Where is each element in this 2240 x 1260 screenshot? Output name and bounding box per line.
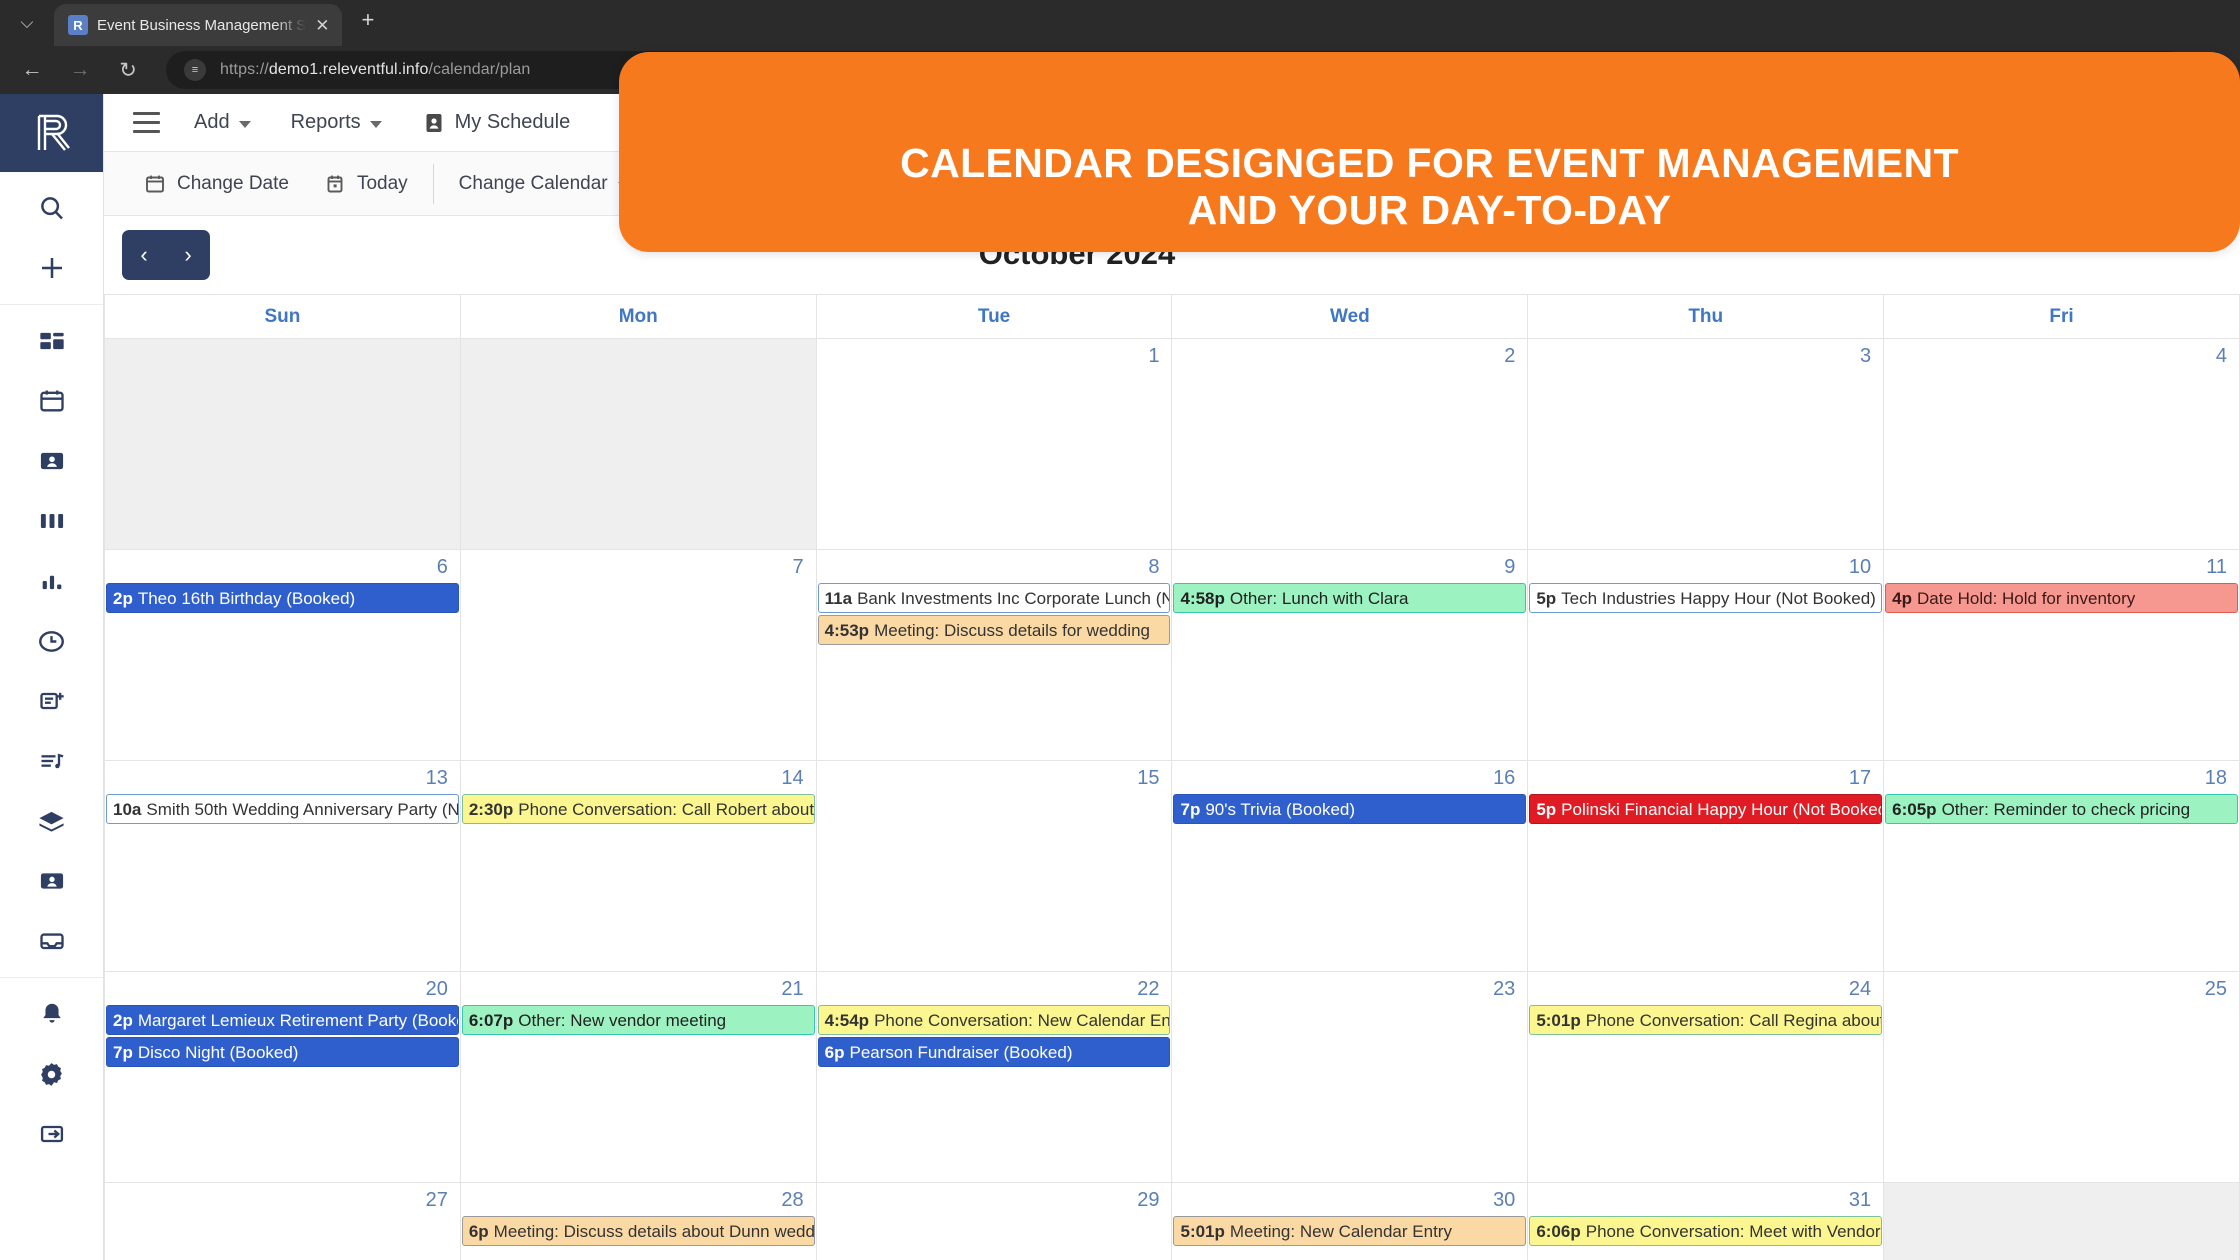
menu-my-schedule-label: My Schedule	[455, 111, 571, 134]
calendar-day-cell[interactable]: 1	[816, 339, 1172, 550]
sidebar-group-main	[0, 305, 103, 978]
calendar-event[interactable]: 4:53pMeeting: Discuss details for weddin…	[818, 615, 1171, 645]
day-number: 25	[1884, 972, 2239, 1003]
event-time: 4:54p	[825, 1011, 869, 1030]
sidebar-item-staff[interactable]	[0, 851, 103, 911]
chevron-down-icon	[370, 121, 382, 128]
url-host: demo1.releventful.info	[269, 61, 429, 78]
calendar-day-cell[interactable]: 2	[1172, 339, 1528, 550]
event-time: 7p	[113, 1043, 133, 1062]
menu-my-schedule[interactable]: My Schedule	[402, 94, 591, 152]
calendar-grid: SunMonTueWedThuFri 123462pTheo 16th Birt…	[104, 294, 2240, 1260]
calendar-week-row: 1310aSmith 50th Wedding Anniversary Part…	[105, 761, 2240, 972]
event-time: 10a	[113, 800, 141, 819]
sidebar-item-reports[interactable]	[0, 551, 103, 611]
calendar-event[interactable]: 2pMargaret Lemieux Retirement Party (Boo…	[106, 1005, 459, 1035]
staff-icon	[38, 867, 66, 895]
calendar-day-cell[interactable]: 105pTech Industries Happy Hour (Not Book…	[1528, 550, 1884, 761]
event-time: 6:07p	[469, 1011, 513, 1030]
event-title: Margaret Lemieux Retirement Party (Booke…	[138, 1011, 459, 1030]
day-number: 23	[1172, 972, 1527, 1003]
sidebar-item-playlists[interactable]	[0, 731, 103, 791]
calendar-day-cell[interactable]: 286pMeeting: Discuss details about Dunn …	[460, 1183, 816, 1260]
sidebar-item-notifications[interactable]	[0, 984, 103, 1044]
day-number: 8	[817, 550, 1172, 581]
dashboard-icon	[38, 327, 66, 355]
calendar-event[interactable]: 2pTheo 16th Birthday (Booked)	[106, 583, 459, 613]
weekday-header: Tue	[816, 295, 1172, 339]
day-number: 24	[1528, 972, 1883, 1003]
change-calendar-dropdown[interactable]: Change Calendar	[442, 152, 647, 216]
event-time: 6p	[825, 1043, 845, 1062]
toolbar-divider	[433, 164, 434, 204]
calendar-day-cell[interactable]: 29	[816, 1183, 1172, 1260]
bell-icon	[38, 1000, 66, 1028]
event-title: 90's Trivia (Booked)	[1205, 800, 1355, 819]
event-title: Meeting: Discuss details about Dunn wedd…	[494, 1222, 815, 1241]
weekday-header: Wed	[1172, 295, 1528, 339]
hamburger-icon[interactable]	[118, 112, 174, 133]
calendar-event[interactable]: 6pMeeting: Discuss details about Dunn we…	[462, 1216, 815, 1246]
clock-icon	[37, 627, 66, 656]
sidebar-item-inbox[interactable]	[0, 911, 103, 971]
event-time: 6:05p	[1892, 800, 1936, 819]
event-title: Meeting: New Calendar Entry	[1230, 1222, 1452, 1241]
tab-title: Event Business Management S	[97, 17, 306, 34]
event-time: 4:53p	[825, 621, 869, 640]
calendar-day-cell[interactable]: 4	[1884, 339, 2240, 550]
day-number: 15	[817, 761, 1172, 792]
sidebar-item-packages[interactable]	[0, 791, 103, 851]
calendar-event[interactable]: 4:58pOther: Lunch with Clara	[1173, 583, 1526, 613]
inbox-icon	[38, 927, 66, 955]
day-number	[105, 339, 460, 370]
event-time: 5:01p	[1180, 1222, 1224, 1241]
day-number: 6	[105, 550, 460, 581]
event-title: Other: Lunch with Clara	[1230, 589, 1409, 608]
calendar-event[interactable]: 11aBank Investments Inc Corporate Lunch …	[818, 583, 1171, 613]
chevron-down-icon	[239, 121, 251, 128]
day-number: 1	[817, 339, 1172, 370]
day-number	[1884, 1183, 2239, 1214]
browser-tab[interactable]: R Event Business Management S ✕	[54, 4, 342, 46]
invoice-add-icon	[38, 687, 66, 715]
columns-icon	[38, 507, 66, 535]
menu-add-label: Add	[194, 111, 230, 134]
event-time: 6p	[469, 1222, 489, 1241]
day-number: 11	[1884, 550, 2239, 581]
calendar-event[interactable]: 4pDate Hold: Hold for inventory	[1885, 583, 2238, 613]
calendar-event[interactable]: 4:54pPhone Conversation: New Calendar En…	[818, 1005, 1171, 1035]
day-number: 31	[1528, 1183, 1883, 1214]
calendar-day-cell[interactable]: 811aBank Investments Inc Corporate Lunch…	[816, 550, 1172, 761]
day-number: 14	[461, 761, 816, 792]
event-title: Date Hold: Hold for inventory	[1917, 589, 2135, 608]
calendar-day-cell[interactable]: 175pPolinski Financial Happy Hour (Not B…	[1528, 761, 1884, 972]
event-time: 4:58p	[1180, 589, 1224, 608]
event-time: 2:30p	[469, 800, 513, 819]
today-label: Today	[357, 173, 408, 195]
sidebar-item-pipeline[interactable]	[0, 491, 103, 551]
tab-list-chevron-icon[interactable]: ⌵	[0, 0, 54, 46]
calendar-day-cell[interactable]: 23	[1172, 972, 1528, 1183]
calendar-event[interactable]: 7p90's Trivia (Booked)	[1173, 794, 1526, 824]
day-number: 4	[1884, 339, 2239, 370]
sidebar-item-search[interactable]	[0, 178, 103, 238]
event-time: 5p	[1536, 589, 1556, 608]
sidebar-item-time[interactable]	[0, 611, 103, 671]
calendar-week-row: 202pMargaret Lemieux Retirement Party (B…	[105, 972, 2240, 1183]
calendar-event[interactable]: 5:01pMeeting: New Calendar Entry	[1173, 1216, 1526, 1246]
event-time: 5p	[1536, 800, 1556, 819]
sidebar-item-new-invoice[interactable]	[0, 671, 103, 731]
calendar-day-cell[interactable]: 7	[460, 550, 816, 761]
calendar-day-cell[interactable]: 27	[105, 1183, 461, 1260]
calendar-icon	[38, 387, 66, 415]
event-title: Other: Reminder to check pricing	[1942, 800, 2191, 819]
logout-icon	[38, 1120, 66, 1148]
app-logo[interactable]	[0, 94, 103, 172]
search-icon	[37, 193, 67, 223]
event-time: 2p	[113, 589, 133, 608]
weekday-header: Thu	[1528, 295, 1884, 339]
event-title: Bank Investments Inc Corporate Lunch (No…	[857, 589, 1170, 608]
application: Add Reports My Schedule Change Date Toda…	[0, 94, 2240, 1260]
calendar-day-cell[interactable]: 316:06pPhone Conversation: Meet with Ven…	[1528, 1183, 1884, 1260]
calendar-day-cell[interactable]: 62pTheo 16th Birthday (Booked)	[105, 550, 461, 761]
day-number	[461, 339, 816, 370]
calendar-event[interactable]: 6:05pOther: Reminder to check pricing	[1885, 794, 2238, 824]
calendar-day-cell[interactable]	[1884, 1183, 2240, 1260]
id-card-icon	[422, 111, 446, 135]
sidebar-group-system	[0, 978, 103, 1170]
calendar-day-cell[interactable]	[460, 339, 816, 550]
day-number: 29	[817, 1183, 1172, 1214]
change-date-label: Change Date	[177, 173, 289, 195]
menu-reports[interactable]: Reports	[271, 94, 402, 152]
sidebar	[0, 94, 104, 1260]
day-number: 3	[1528, 339, 1883, 370]
calendar-event[interactable]: 7pDisco Night (Booked)	[106, 1037, 459, 1067]
chart-icon	[38, 567, 66, 595]
calendar-day-cell[interactable]: 142:30pPhone Conversation: Call Robert a…	[460, 761, 816, 972]
url-scheme: https://	[220, 61, 269, 78]
day-number: 16	[1172, 761, 1527, 792]
menu-reports-label: Reports	[291, 111, 361, 134]
layers-icon	[37, 807, 66, 836]
day-number: 20	[105, 972, 460, 1003]
calendar-week-row: 1234	[105, 339, 2240, 550]
calendar-day-cell[interactable]: 224:54pPhone Conversation: New Calendar …	[816, 972, 1172, 1183]
calendar-day-cell[interactable]: 305:01pMeeting: New Calendar Entry	[1172, 1183, 1528, 1260]
contacts-icon	[38, 447, 66, 475]
event-title: Phone Conversation: New Calendar Entry	[874, 1011, 1170, 1030]
calendar-event[interactable]: 2:30pPhone Conversation: Call Robert abo…	[462, 794, 815, 824]
calendar-day-cell[interactable]: 245:01pPhone Conversation: Call Regina a…	[1528, 972, 1884, 1183]
day-number: 18	[1884, 761, 2239, 792]
event-title: Polinski Financial Happy Hour (Not Booke…	[1561, 800, 1882, 819]
calendar-today-icon	[323, 172, 347, 196]
weekday-header: Mon	[460, 295, 816, 339]
day-number: 9	[1172, 550, 1527, 581]
calendar-panel: ‹ › October 2024 SunMonTueWedThuFri 1234…	[104, 216, 2240, 1260]
event-title: Meeting: Discuss details for wedding	[874, 621, 1150, 640]
event-time: 5:01p	[1536, 1011, 1580, 1030]
forward-icon[interactable]: →	[56, 46, 104, 94]
event-title: Smith 50th Wedding Anniversary Party (No…	[146, 800, 458, 819]
close-icon[interactable]: ✕	[315, 17, 329, 34]
day-number: 21	[461, 972, 816, 1003]
calendar-event[interactable]: 5pPolinski Financial Happy Hour (Not Boo…	[1529, 794, 1882, 824]
browser-tabstrip: ⌵ R Event Business Management S ✕ +	[0, 0, 2240, 46]
event-title: Phone Conversation: Meet with Vendor con…	[1586, 1222, 1882, 1241]
event-title: Theo 16th Birthday (Booked)	[138, 589, 355, 608]
change-calendar-label: Change Calendar	[459, 173, 608, 195]
calendar-icon	[143, 172, 167, 196]
calendar-week-row: 27286pMeeting: Discuss details about Dun…	[105, 1183, 2240, 1260]
sidebar-group-quick	[0, 172, 103, 305]
event-time: 11a	[825, 589, 852, 608]
calendar-event[interactable]: 10aSmith 50th Wedding Anniversary Party …	[106, 794, 459, 824]
favicon: R	[68, 15, 88, 35]
day-number: 17	[1528, 761, 1883, 792]
event-title: Phone Conversation: Call Robert about Di…	[518, 800, 814, 819]
calendar-day-cell[interactable]: 167p90's Trivia (Booked)	[1172, 761, 1528, 972]
day-number: 10	[1528, 550, 1883, 581]
calendar-day-cell[interactable]: 202pMargaret Lemieux Retirement Party (B…	[105, 972, 461, 1183]
sidebar-item-contacts[interactable]	[0, 431, 103, 491]
event-time: 4p	[1892, 589, 1912, 608]
back-icon[interactable]: ←	[8, 46, 56, 94]
calendar-day-cell[interactable]: 186:05pOther: Reminder to check pricing	[1884, 761, 2240, 972]
day-number: 13	[105, 761, 460, 792]
event-time: 6:06p	[1536, 1222, 1580, 1241]
weekday-header-row: SunMonTueWedThuFri	[105, 295, 2240, 339]
calendar-event[interactable]: 6pPearson Fundraiser (Booked)	[818, 1037, 1171, 1067]
sidebar-item-settings[interactable]	[0, 1044, 103, 1104]
event-title: Phone Conversation: Call Regina about pr…	[1586, 1011, 1882, 1030]
calendar-day-cell[interactable]: 3	[1528, 339, 1884, 550]
change-date-button[interactable]: Change Date	[126, 152, 306, 216]
event-title: Tech Industries Happy Hour (Not Booked)	[1561, 589, 1876, 608]
today-button[interactable]: Today	[306, 152, 425, 216]
day-number: 27	[105, 1183, 460, 1214]
calendar-day-cell[interactable]: 25	[1884, 972, 2240, 1183]
promo-banner-line2: AND YOUR DAY-TO-DAY	[1188, 187, 1672, 234]
weekday-header: Sun	[105, 295, 461, 339]
gear-icon	[37, 1060, 66, 1089]
sidebar-item-add[interactable]	[0, 238, 103, 298]
calendar-day-cell[interactable]: 216:07pOther: New vendor meeting	[460, 972, 816, 1183]
promo-banner: CALENDAR DESIGNGED FOR EVENT MANAGEMENT …	[619, 52, 2240, 252]
sidebar-item-logout[interactable]	[0, 1104, 103, 1164]
promo-banner-line1: CALENDAR DESIGNGED FOR EVENT MANAGEMENT	[900, 140, 1959, 187]
calendar-day-cell[interactable]: 15	[816, 761, 1172, 972]
calendar-day-cell[interactable]: 114pDate Hold: Hold for inventory	[1884, 550, 2240, 761]
event-title: Pearson Fundraiser (Booked)	[850, 1043, 1073, 1062]
new-tab-button[interactable]: +	[342, 7, 393, 39]
browser-window: ⌵ R Event Business Management S ✕ + ← → …	[0, 0, 2240, 1260]
calendar-body: 123462pTheo 16th Birthday (Booked)7811aB…	[105, 339, 2240, 1260]
event-time: 2p	[113, 1011, 133, 1030]
event-title: Other: New vendor meeting	[518, 1011, 726, 1030]
day-number: 2	[1172, 339, 1527, 370]
calendar-day-cell[interactable]: 94:58pOther: Lunch with Clara	[1172, 550, 1528, 761]
day-number: 7	[461, 550, 816, 581]
calendar-week-row: 62pTheo 16th Birthday (Booked)7811aBank …	[105, 550, 2240, 761]
calendar-day-cell[interactable]	[105, 339, 461, 550]
calendar-event[interactable]: 5pTech Industries Happy Hour (Not Booked…	[1529, 583, 1882, 613]
calendar-day-cell[interactable]: 1310aSmith 50th Wedding Anniversary Part…	[105, 761, 461, 972]
weekday-header: Fri	[1884, 295, 2240, 339]
calendar-event[interactable]: 6:07pOther: New vendor meeting	[462, 1005, 815, 1035]
event-time: 7p	[1180, 800, 1200, 819]
playlist-icon	[38, 747, 66, 775]
menu-add[interactable]: Add	[174, 94, 271, 152]
event-title: Disco Night (Booked)	[138, 1043, 299, 1062]
address-bar-url: https://demo1.releventful.info/calendar/…	[220, 61, 530, 79]
reload-icon[interactable]: ↻	[104, 46, 152, 94]
add-icon	[37, 253, 67, 283]
sidebar-item-calendar[interactable]	[0, 371, 103, 431]
calendar-event[interactable]: 6:06pPhone Conversation: Meet with Vendo…	[1529, 1216, 1882, 1246]
sidebar-item-dashboard[interactable]	[0, 311, 103, 371]
url-path: /calendar/plan	[428, 61, 530, 78]
day-number: 22	[817, 972, 1172, 1003]
calendar-event[interactable]: 5:01pPhone Conversation: Call Regina abo…	[1529, 1005, 1882, 1035]
day-number: 28	[461, 1183, 816, 1214]
site-settings-icon[interactable]: ≡	[184, 59, 206, 81]
day-number: 30	[1172, 1183, 1527, 1214]
